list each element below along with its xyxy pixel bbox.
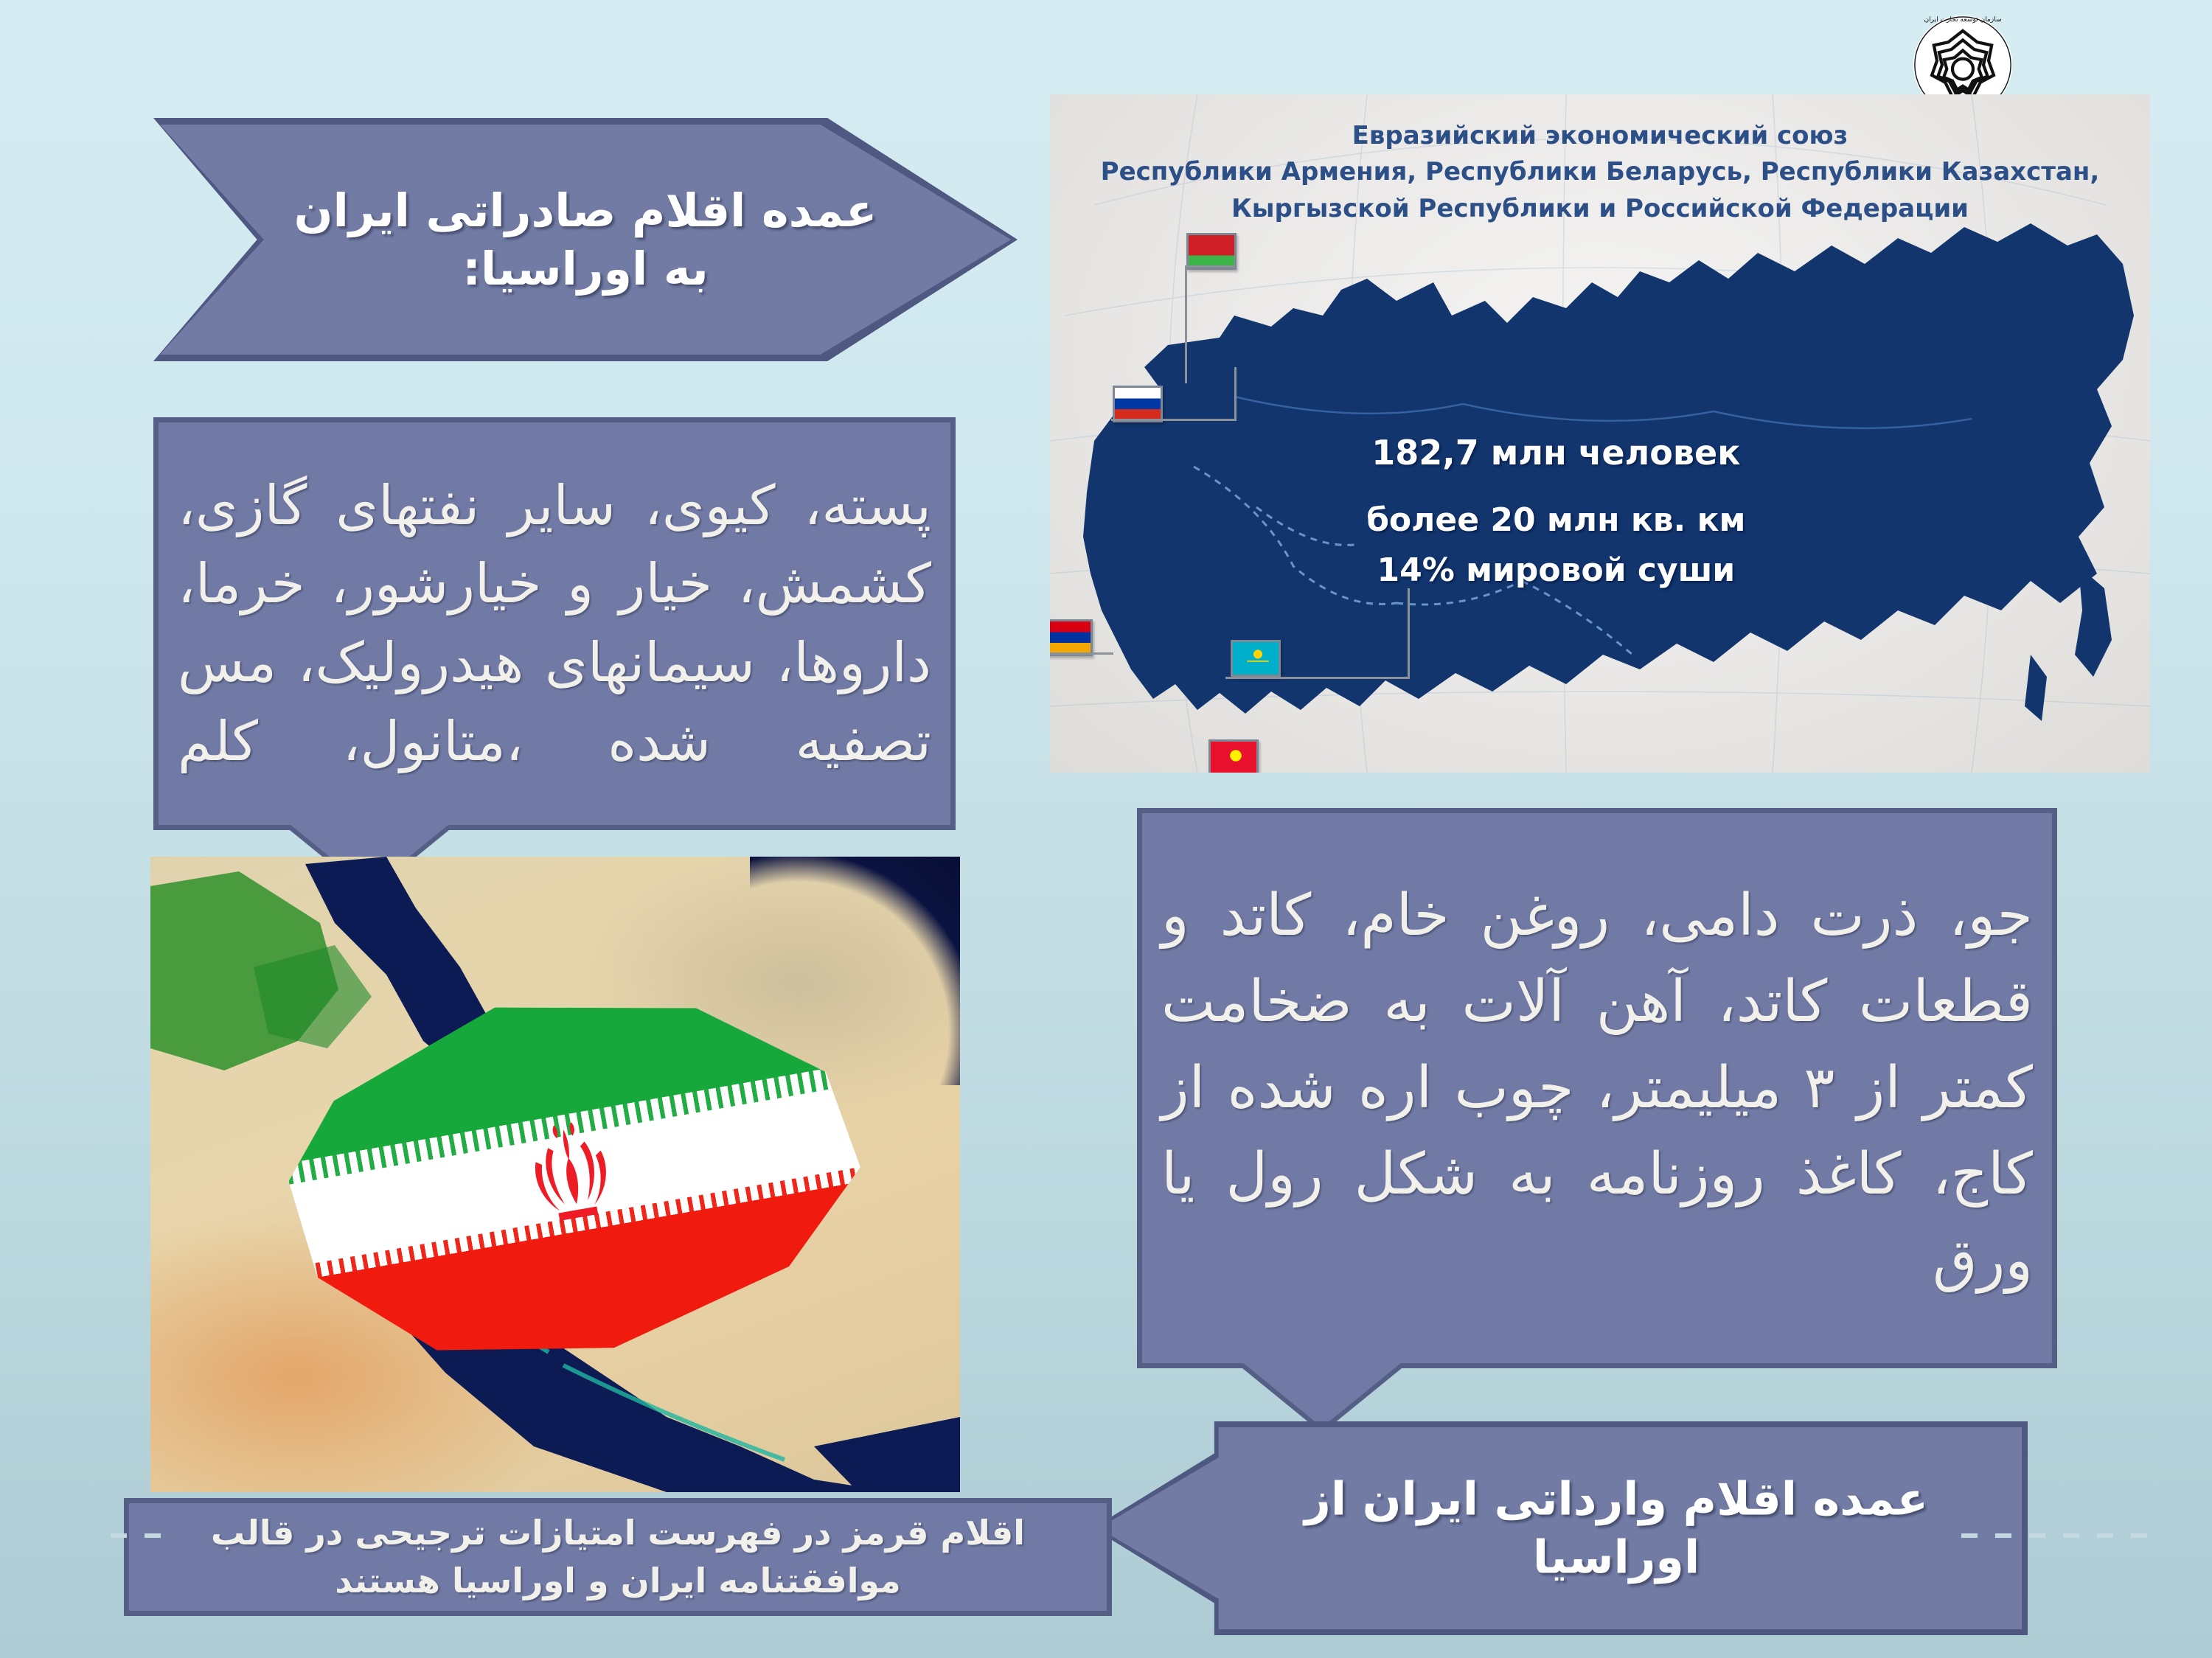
import-items-text: جو، ذرت دامی، روغن خام، کاتد و قطعات کات… bbox=[1142, 873, 2052, 1304]
decorative-dotted-rule-left bbox=[111, 1533, 177, 1538]
flag-belarus-icon bbox=[1186, 233, 1237, 270]
stat-population: 182,7 млн человек bbox=[1182, 427, 1930, 479]
footnote-box: اقلام قرمز در فهرست امتیازات ترجیحی در ق… bbox=[124, 1498, 1112, 1616]
leader-line-belarus-v bbox=[1185, 265, 1187, 383]
eaeu-map-title: Евразийский экономический союз Республик… bbox=[1050, 118, 2150, 227]
stat-area: более 20 млн кв. км bbox=[1182, 495, 1930, 546]
map-title-line-2: Республики Армения, Республики Беларусь,… bbox=[1050, 154, 2150, 190]
eaeu-map-statistics: 182,7 млн человек более 20 млн кв. км 14… bbox=[1182, 427, 1930, 596]
import-items-callout: جو، ذرت دامی، روغن خام، کاتد و قطعات کات… bbox=[1137, 808, 2057, 1368]
flag-russia-icon bbox=[1113, 386, 1163, 422]
stat-land-share: 14% мировой суши bbox=[1182, 546, 1930, 596]
leader-line-armenia bbox=[1050, 652, 1113, 655]
leader-line-russia bbox=[1111, 419, 1237, 421]
import-banner-label: عمده اقلام وارداتی ایران از اوراسیا bbox=[1242, 1470, 1990, 1587]
flag-kazakhstan-icon bbox=[1231, 640, 1281, 677]
flag-armenia-icon bbox=[1050, 619, 1093, 656]
footnote-text: اقلام قرمز در فهرست امتیازات ترجیحی در ق… bbox=[129, 1509, 1107, 1606]
export-items-text: پسته، کیوی، سایر نفتهای گازی، کشمش، خیار… bbox=[159, 467, 950, 781]
leader-line-kazakhstan bbox=[1225, 677, 1410, 679]
iran-flag-globe-image bbox=[150, 857, 960, 1492]
flag-kyrgyzstan-icon bbox=[1208, 739, 1259, 773]
export-banner: عمده اقلام صادراتی ایران به اوراسیا: bbox=[153, 118, 1018, 361]
export-banner-label: عمده اقلام صادراتی ایران به اوراسیا: bbox=[274, 181, 897, 299]
import-callout-tail bbox=[1242, 1362, 1402, 1427]
eaeu-map-image: Евразийский экономический союз Республик… bbox=[1050, 94, 2150, 773]
leader-line-russia-v bbox=[1234, 367, 1237, 420]
leader-line-kazakhstan-v bbox=[1408, 588, 1410, 678]
globe-canvas bbox=[150, 857, 960, 1492]
map-title-line-1: Евразийский экономический союз bbox=[1050, 118, 2150, 154]
slide-canvas: سازمان توسعه تجارت ایران Trade Promotion… bbox=[0, 0, 2212, 1658]
map-title-line-3: Кыргызской Республики и Российской Федер… bbox=[1050, 191, 2150, 227]
svg-text:سازمان توسعه تجارت ایران: سازمان توسعه تجارت ایران bbox=[1924, 16, 2001, 24]
export-items-callout: پسته، کیوی، سایر نفتهای گازی، کشمش، خیار… bbox=[153, 417, 956, 830]
import-banner: عمده اقلام وارداتی ایران از اوراسیا bbox=[1093, 1421, 2028, 1635]
leader-line-belarus bbox=[1185, 265, 1235, 268]
